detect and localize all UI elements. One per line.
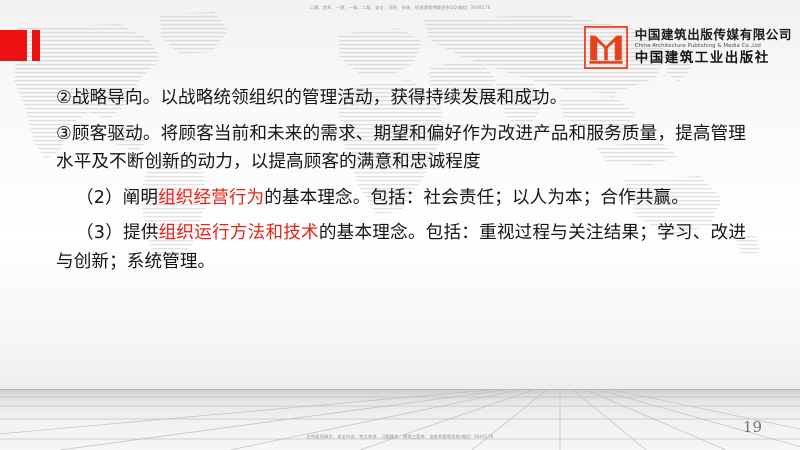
text-run: （3）提供 [76, 223, 159, 243]
logo-company-name-cn: 中国建筑出版传媒有限公司 [635, 29, 792, 42]
slide-canvas: 二建、造师、一建、一级、二级、安全、消防、咨询、检测课程押题答系QQ/微信: 3… [0, 0, 800, 450]
slide-body-text: ②战略导向。以战略统领组织的管理活动，获得持续发展和成功。 ③顾客驱动。将顾客当… [56, 84, 746, 283]
text-run: ②战略导向。以战略统领组织的管理活动，获得持续发展和成功。 [56, 88, 567, 108]
page-number: 19 [743, 418, 762, 436]
red-accent-bar [32, 30, 40, 61]
highlighted-term: 组织经营行为 [158, 188, 264, 208]
footer-watermark-note: 名师面授精华、来全内训、考点串讲、习题精考、模拟三套卷、油老师题版系统/微信: … [0, 434, 800, 440]
open-book-emblem-icon [584, 26, 628, 69]
red-accent-block [0, 30, 27, 61]
header-watermark-note: 二建、造师、一建、一级、二级、安全、消防、咨询、检测课程押题答系QQ/微信: 3… [0, 5, 800, 11]
text-run: （2）阐明 [76, 188, 158, 208]
paragraph-item-2-paren: （2）阐明组织经营行为的基本理念。包括：社会责任；以人为本；合作共赢。 [56, 184, 746, 213]
paragraph-item-3-paren: （3）提供组织运行方法和技术的基本理念。包括：重视过程与关注结果；学习、改进与创… [56, 219, 746, 276]
text-run: 的基本理念。包括：社会责任；以人为本；合作共赢。 [264, 188, 689, 208]
logo-company-name-en: China Architecture Publishing & Media Co… [635, 44, 792, 49]
publisher-logo: 中国建筑出版传媒有限公司 China Architecture Publishi… [584, 26, 792, 69]
paragraph-item-2: ②战略导向。以战略统领组织的管理活动，获得持续发展和成功。 [56, 84, 746, 113]
text-run: ③顾客驱动。将顾客当前和未来的需求、期望和偏好作为改进产品和服务质量，提高管理水… [56, 124, 746, 173]
floor-perspective-grid [0, 389, 800, 450]
paragraph-item-3: ③顾客驱动。将顾客当前和未来的需求、期望和偏好作为改进产品和服务质量，提高管理水… [56, 120, 746, 177]
highlighted-term: 组织运行方法和技术 [159, 223, 319, 243]
logo-press-name-cn: 中国建筑工业出版社 [635, 52, 792, 66]
